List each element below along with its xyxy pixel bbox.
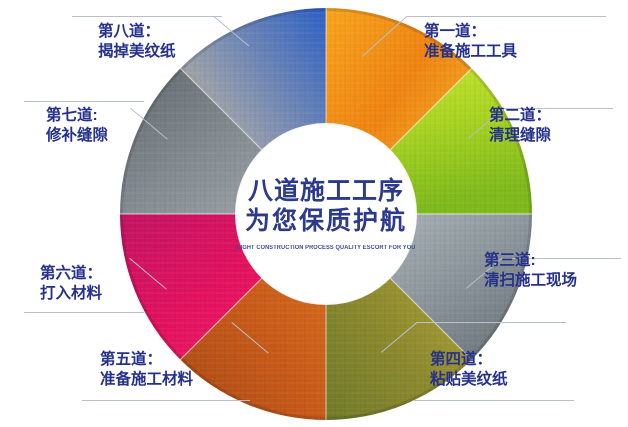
leader-line-1b bbox=[406, 16, 606, 17]
step-label-8[interactable]: 第八道： 揭掉美纹纸 bbox=[98, 22, 176, 63]
step-label-7-index: 第七道: bbox=[46, 106, 108, 126]
step-label-5-index: 第五道： bbox=[100, 350, 193, 370]
step-label-1[interactable]: 第一道： 准备施工工具 bbox=[424, 22, 517, 63]
step-label-1-index: 第一道： bbox=[424, 22, 517, 42]
step-label-3-index: 第三道: bbox=[484, 251, 577, 271]
leader-line-5b bbox=[82, 400, 250, 401]
step-label-4-index: 第四道： bbox=[430, 350, 508, 370]
step-label-1-name: 准备施工工具 bbox=[424, 42, 517, 62]
leader-line-7b bbox=[24, 101, 144, 102]
center-title-line2: 为您保质护航 bbox=[245, 207, 407, 237]
step-label-4[interactable]: 第四道： 粘贴美纹纸 bbox=[430, 350, 508, 391]
step-label-3-name: 清扫施工现场 bbox=[484, 271, 577, 291]
step-label-8-name: 揭掉美纹纸 bbox=[98, 42, 176, 62]
step-label-2[interactable]: 第二道： 清理缝隙 bbox=[489, 106, 551, 147]
leader-line-6b bbox=[24, 312, 144, 313]
leader-line-4c bbox=[414, 400, 574, 401]
center-circle: 八道施工工序 为您保质护航 EIGHT CONSTRUCTION PROCESS… bbox=[236, 124, 416, 304]
center-subtitle: EIGHT CONSTRUCTION PROCESS QUALITY ESCOR… bbox=[237, 245, 416, 251]
step-label-3[interactable]: 第三道: 清扫施工现场 bbox=[484, 251, 577, 292]
step-label-6-index: 第六道： bbox=[40, 264, 102, 284]
step-label-7-name: 修补缝隙 bbox=[46, 126, 108, 146]
step-label-2-index: 第二道： bbox=[489, 106, 551, 126]
step-label-8-index: 第八道： bbox=[98, 22, 176, 42]
step-label-5-name: 准备施工材料 bbox=[100, 370, 193, 390]
step-label-4-name: 粘贴美纹纸 bbox=[430, 370, 508, 390]
leader-line-4b bbox=[416, 322, 566, 323]
step-label-2-name: 清理缝隙 bbox=[489, 126, 551, 146]
step-label-6[interactable]: 第六道： 打入材料 bbox=[40, 264, 102, 305]
step-label-7[interactable]: 第七道: 修补缝隙 bbox=[46, 106, 108, 147]
center-title-line1: 八道施工工序 bbox=[248, 177, 404, 207]
step-label-6-name: 打入材料 bbox=[40, 284, 102, 304]
leader-line-8b bbox=[72, 16, 222, 17]
step-label-5[interactable]: 第五道： 准备施工材料 bbox=[100, 350, 193, 391]
infographic-canvas: 第一道： 准备施工工具 第二道： 清理缝隙 第三道: 清扫施工现场 第四道： 粘… bbox=[0, 0, 628, 427]
